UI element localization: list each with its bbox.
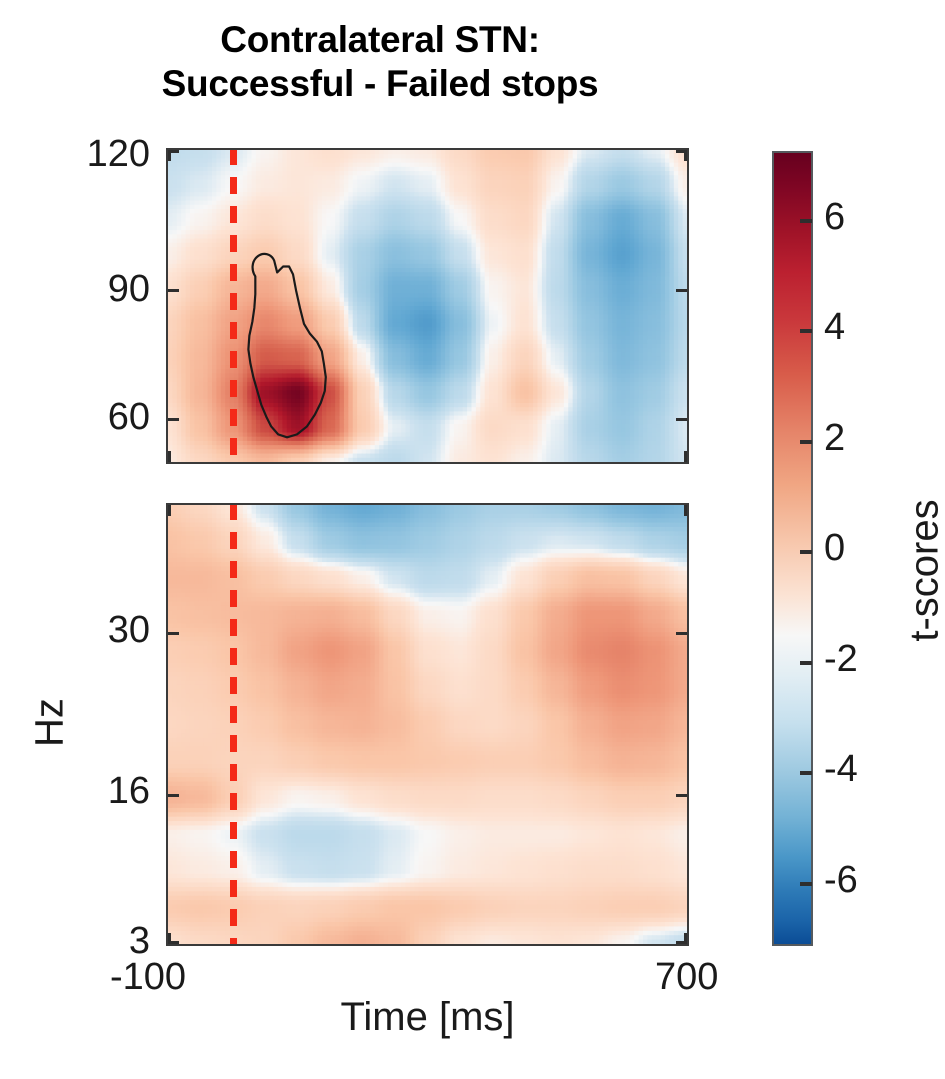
low-frequency-heatmap-panel[interactable] (166, 503, 689, 946)
colorbar-label-4: 4 (824, 308, 845, 346)
axis-tick (676, 418, 687, 421)
axis-tick (168, 505, 171, 516)
colorbar[interactable] (772, 151, 813, 946)
axis-tick (676, 150, 687, 153)
axis-tick-60 (168, 418, 179, 421)
colorbar-tick-2 (800, 440, 812, 444)
axis-tick (676, 289, 687, 292)
axis-tick (676, 632, 687, 635)
colorbar-tick-0 (800, 550, 812, 554)
ytick-label-16: 16 (0, 772, 150, 810)
ytick-label-90: 90 (0, 270, 150, 308)
axis-tick (676, 941, 687, 944)
axis-tick (684, 505, 687, 516)
colorbar-tick-4 (800, 329, 812, 333)
high-frequency-heatmap-panel[interactable] (166, 148, 689, 464)
ytick-label-3: 3 (0, 922, 150, 960)
axis-tick-120 (168, 150, 179, 153)
ytick-label-120: 120 (0, 135, 150, 173)
colorbar-label-neg2: -2 (824, 640, 858, 678)
y-axis-label: Hz (28, 643, 73, 803)
colorbar-title: t-scores (903, 471, 945, 671)
colorbar-tick-neg2 (800, 661, 812, 665)
axis-tick-16 (168, 794, 179, 797)
x-axis-label: Time [ms] (166, 995, 689, 1040)
axis-tick (684, 451, 687, 462)
xtick-label-start: -100 (110, 958, 186, 996)
colorbar-label-neg6: -6 (824, 861, 858, 899)
colorbar-tick-6 (800, 219, 812, 223)
colorbar-label-6: 6 (824, 198, 845, 236)
xtick-label-end: 700 (655, 958, 718, 996)
axis-tick (676, 794, 687, 797)
low-frequency-heatmap-image (168, 505, 687, 944)
ytick-label-30: 30 (0, 611, 150, 649)
colorbar-tick-neg4 (800, 771, 812, 775)
axis-tick-30 (168, 632, 179, 635)
axis-tick-90 (168, 289, 179, 292)
high-frequency-heatmap-image (168, 150, 687, 462)
colorbar-label-0: 0 (824, 529, 845, 567)
ytick-label-60: 60 (0, 398, 150, 436)
colorbar-label-neg4: -4 (824, 750, 858, 788)
colorbar-label-2: 2 (824, 419, 845, 457)
colorbar-tick-neg6 (800, 882, 812, 886)
axis-tick (168, 451, 171, 462)
colorbar-gradient (774, 153, 811, 944)
axis-tick-3 (168, 941, 179, 944)
page-title: Contralateral STN: Successful - Failed s… (0, 18, 760, 105)
